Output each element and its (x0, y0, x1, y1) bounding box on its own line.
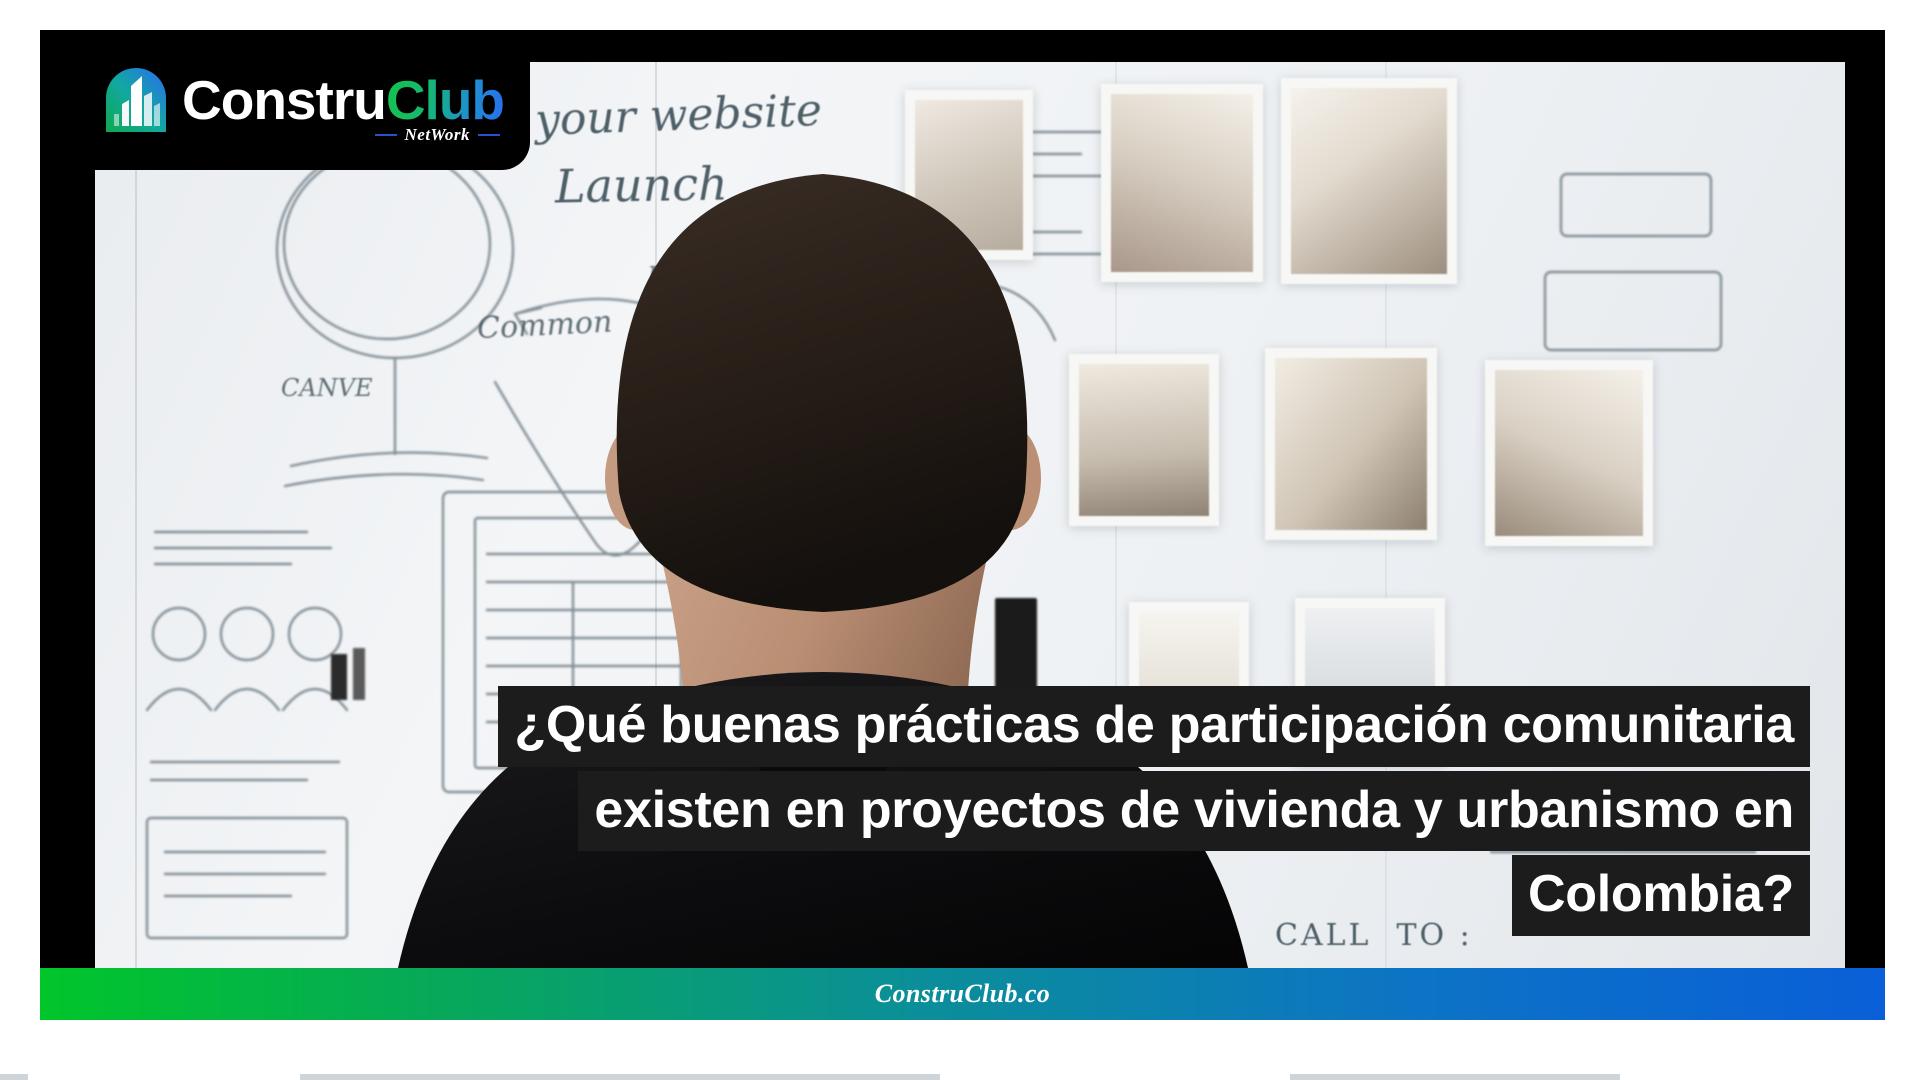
headline-line-3-text: Colombia? (1512, 855, 1810, 936)
logo-dash-left (375, 134, 397, 136)
headline-line-1-text: ¿Qué buenas prácticas de participación c… (498, 686, 1810, 767)
bottom-white-strip (0, 1020, 1920, 1080)
brand-logo-text: ConstruClub NetWork (182, 73, 504, 128)
footer-website-label[interactable]: ConstruClub.co (875, 979, 1050, 1009)
logo-word-club: Club (386, 69, 504, 131)
page-edge-mark (0, 1074, 28, 1080)
logo-dash-right (478, 134, 500, 136)
page-edge-mark (1290, 1074, 1620, 1080)
building-skyline-icon (102, 64, 170, 136)
headline-line-3: Colombia? (250, 855, 1810, 936)
headline-block: ¿Qué buenas prácticas de participación c… (250, 686, 1810, 940)
slide-page: your website Launch Focused How Simple C… (0, 0, 1920, 1080)
headline-line-1: ¿Qué buenas prácticas de participación c… (250, 686, 1810, 767)
page-edge-mark (300, 1074, 940, 1080)
logo-word-constru: Constru (182, 69, 386, 131)
logo-subtitle-group: NetWork (375, 125, 501, 145)
headline-line-2-text: existen en proyectos de vivienda y urban… (578, 771, 1810, 852)
footer-bar[interactable]: ConstruClub.co (40, 968, 1885, 1020)
headline-line-2: existen en proyectos de vivienda y urban… (250, 771, 1810, 852)
logo-subtitle: NetWork (405, 125, 471, 145)
brand-logo-badge[interactable]: ConstruClub NetWork (40, 30, 530, 170)
